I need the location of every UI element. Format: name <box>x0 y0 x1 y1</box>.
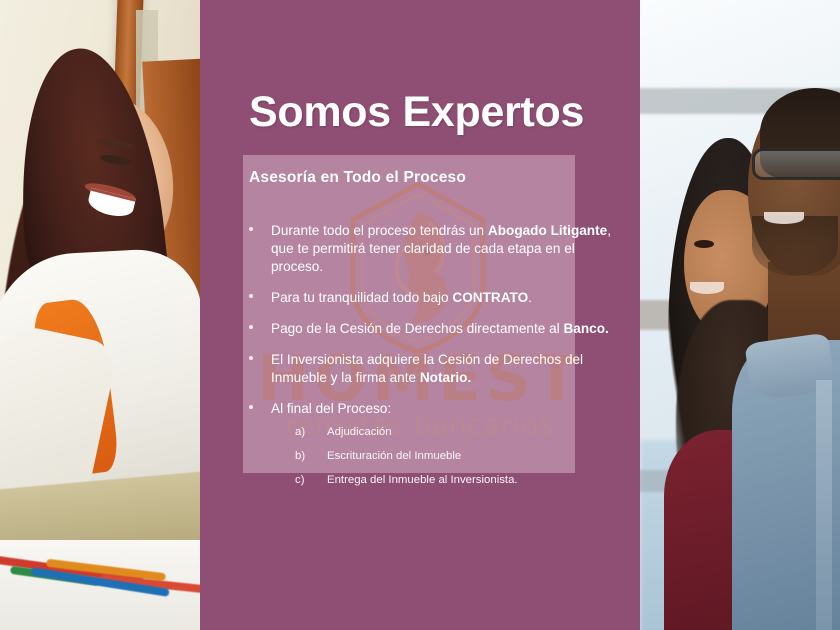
photo-right-two-colleagues <box>640 0 840 630</box>
bullet-item: Al final del Proceso:a)Adjudicaciónb)Esc… <box>241 400 623 488</box>
sub-list-text: Adjudicación <box>327 426 392 438</box>
bullet-text-bold: Banco. <box>563 321 608 336</box>
bullet-text: El Inversionista adquiere la Cesión de D… <box>271 352 583 385</box>
bullet-dot-icon <box>249 325 253 329</box>
content-subheading: Asesoría en Todo el Proceso <box>249 169 466 187</box>
bullet-text-plain: Para tu tranquilidad todo bajo <box>271 290 452 305</box>
bullet-text-bold: CONTRATO <box>452 290 528 305</box>
bullet-text: Durante todo el proceso tendrás un Aboga… <box>271 223 611 274</box>
bullet-text-plain: Pago de la Cesión de Derechos directamen… <box>271 321 563 336</box>
bullet-dot-icon <box>249 405 253 409</box>
bullet-sub-list: a)Adjudicaciónb)Escrituración del Inmueb… <box>271 425 623 488</box>
sub-list-marker: a) <box>295 425 305 440</box>
slide-title: Somos Expertos <box>249 88 584 137</box>
sub-list-marker: b) <box>295 449 305 464</box>
sub-list-text: Escrituración del Inmueble <box>327 450 461 462</box>
photo-right-man-smile <box>764 212 804 224</box>
bullet-text-bold: Notario. <box>420 370 471 385</box>
photo-right-man-shirt-placket <box>816 380 832 630</box>
bullet-text-bold: Abogado Litigante <box>488 223 607 238</box>
presentation-slide: Somos Expertos HOMEST remates bancarios … <box>0 0 840 630</box>
bullet-item: El Inversionista adquiere la Cesión de D… <box>241 351 623 387</box>
bullet-item: Para tu tranquilidad todo bajo CONTRATO. <box>241 289 623 307</box>
photo-right-woman-smile <box>690 282 724 294</box>
bullet-text: Para tu tranquilidad todo bajo CONTRATO. <box>271 290 532 305</box>
bullet-dot-icon <box>249 227 253 231</box>
photo-left-woman-at-desk <box>0 0 200 630</box>
bullet-item: Durante todo el proceso tendrás un Aboga… <box>241 222 623 276</box>
photo-right-man-glasses <box>752 148 840 180</box>
sub-list-item: b)Escrituración del Inmueble <box>271 449 623 464</box>
bullet-dot-icon <box>249 294 253 298</box>
bullet-item: Pago de la Cesión de Derechos directamen… <box>241 320 623 338</box>
sub-list-marker: c) <box>295 473 305 488</box>
bullet-list: Durante todo el proceso tendrás un Aboga… <box>241 222 623 501</box>
bullet-text-plain: Al final del Proceso: <box>271 401 391 416</box>
bullet-text-plain: Durante todo el proceso tendrás un <box>271 223 488 238</box>
sub-list-item: c)Entrega del Inmueble al Inversionista. <box>271 473 623 488</box>
bullet-dot-icon <box>249 356 253 360</box>
sub-list-text: Entrega del Inmueble al Inversionista. <box>327 474 518 486</box>
bullet-text-plain: . <box>528 290 532 305</box>
photo-right-woman-eye <box>694 240 714 248</box>
photo-right-man-beard <box>752 216 838 276</box>
bullet-text: Pago de la Cesión de Derechos directamen… <box>271 321 609 336</box>
bullet-text: Al final del Proceso: <box>271 401 391 416</box>
sub-list-item: a)Adjudicación <box>271 425 623 440</box>
